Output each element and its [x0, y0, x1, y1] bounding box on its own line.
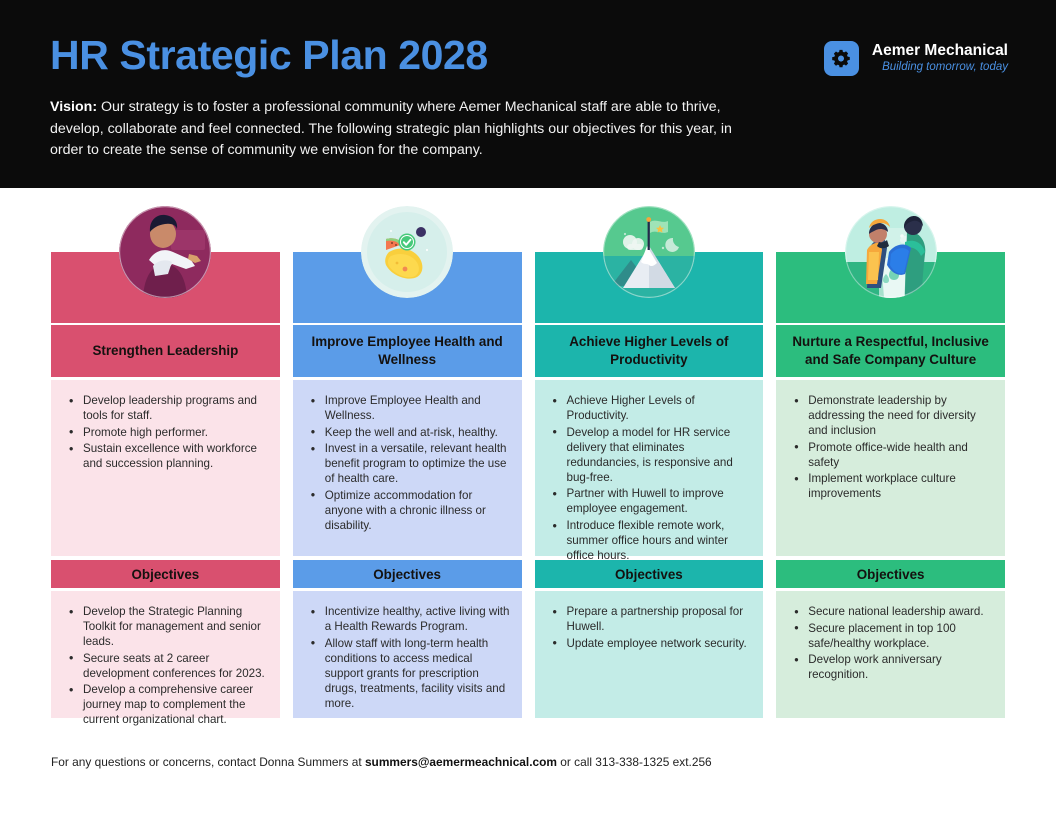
list-item: Sustain excellence with workforce and su… — [61, 441, 268, 471]
list-item: Improve Employee Health and Wellness. — [303, 393, 510, 423]
healthy-food-check-icon — [361, 206, 453, 298]
list-item: Implement workplace culture improvements — [786, 471, 993, 501]
column-title: Nurture a Respectful, Inclusive and Safe… — [776, 325, 1005, 377]
footer-email[interactable]: summers@aemermeachnical.com — [365, 755, 557, 769]
list-item: Achieve Higher Levels of Productivity. — [545, 393, 752, 423]
team-recycling-icon — [845, 206, 937, 298]
column-objectives: Develop the Strategic Planning Toolkit f… — [61, 604, 268, 728]
objectives-header: Objectives — [776, 560, 1005, 588]
vision-text: Our strategy is to foster a professional… — [50, 99, 732, 158]
footer-prefix: For any questions or concerns, contact D… — [51, 755, 365, 769]
list-item: Develop leadership programs and tools fo… — [61, 393, 268, 423]
column-banner — [293, 252, 522, 323]
list-item: Develop a comprehensive career journey m… — [61, 682, 268, 727]
list-item: Demonstrate leadership by addressing the… — [786, 393, 993, 438]
list-item: Keep the well and at-risk, healthy. — [303, 425, 510, 440]
vision-statement: Vision: Our strategy is to foster a prof… — [50, 97, 768, 162]
list-item: Optimize accommodation for anyone with a… — [303, 488, 510, 533]
column-banner — [535, 252, 764, 323]
column-title: Improve Employee Health and Wellness — [293, 325, 522, 377]
list-item: Prepare a partnership proposal for Huwel… — [545, 604, 752, 634]
list-item: Update employee network security. — [545, 636, 752, 651]
column-body: Improve Employee Health and Wellness. Ke… — [293, 380, 522, 556]
column-objectives: Secure national leadership award. Secure… — [786, 604, 993, 682]
objectives-header: Objectives — [535, 560, 764, 588]
gear-icon — [824, 41, 859, 76]
column-points: Achieve Higher Levels of Productivity. D… — [545, 393, 752, 563]
objectives-body: Incentivize healthy, active living with … — [293, 591, 522, 718]
list-item: Secure national leadership award. — [786, 604, 993, 619]
column-achieve-higher-levels-of-productivity: Achieve Higher Levels of Productivity Ac… — [535, 252, 764, 718]
column-title: Strengthen Leadership — [51, 325, 280, 377]
column-improve-employee-health-and-wellness: Improve Employee Health and Wellness Imp… — [293, 252, 522, 718]
list-item: Invest in a versatile, relevant health b… — [303, 441, 510, 486]
column-objectives: Incentivize healthy, active living with … — [303, 604, 510, 711]
column-banner — [776, 252, 1005, 323]
objectives-body: Prepare a partnership proposal for Huwel… — [535, 591, 764, 718]
column-strengthen-leadership: Strengthen Leadership Develop leadership… — [51, 252, 280, 718]
footer-suffix: or call 313-338-1325 ext.256 — [557, 755, 712, 769]
column-points: Improve Employee Health and Wellness. Ke… — [303, 393, 510, 533]
objectives-body: Develop the Strategic Planning Toolkit f… — [51, 591, 280, 718]
list-item: Incentivize healthy, active living with … — [303, 604, 510, 634]
list-item: Partner with Huwell to improve employee … — [545, 486, 752, 516]
list-item: Secure seats at 2 career development con… — [61, 651, 268, 681]
column-body: Develop leadership programs and tools fo… — [51, 380, 280, 556]
list-item: Introduce flexible remote work, summer o… — [545, 518, 752, 563]
column-body: Achieve Higher Levels of Productivity. D… — [535, 380, 764, 556]
objectives-body: Secure national leadership award. Secure… — [776, 591, 1005, 718]
column-objectives: Prepare a partnership proposal for Huwel… — [545, 604, 752, 651]
column-points: Develop leadership programs and tools fo… — [61, 393, 268, 471]
brand-tagline: Building tomorrow, today — [872, 60, 1008, 75]
brand-name: Aemer Mechanical — [872, 42, 1008, 60]
list-item: Promote office-wide health and safety — [786, 440, 993, 470]
vision-label: Vision: — [50, 99, 97, 115]
strategy-columns: Strengthen Leadership Develop leadership… — [51, 252, 1005, 718]
list-item: Develop the Strategic Planning Toolkit f… — [61, 604, 268, 649]
person-presenting-icon — [119, 206, 211, 298]
list-item: Develop a model for HR service delivery … — [545, 425, 752, 485]
list-item: Develop work anniversary recognition. — [786, 652, 993, 682]
mountain-summit-flag-icon — [603, 206, 695, 298]
list-item: Allow staff with long-term health condit… — [303, 636, 510, 711]
column-points: Demonstrate leadership by addressing the… — [786, 393, 993, 501]
infographic-page: HR Strategic Plan 2028 Vision: Our strat… — [0, 0, 1056, 816]
objectives-header: Objectives — [293, 560, 522, 588]
brand-lockup: Aemer Mechanical Building tomorrow, toda… — [824, 41, 1008, 76]
list-item: Promote high performer. — [61, 425, 268, 440]
column-title: Achieve Higher Levels of Productivity — [535, 325, 764, 377]
column-banner — [51, 252, 280, 323]
column-nurture-respectful-inclusive-safe-culture: Nurture a Respectful, Inclusive and Safe… — [776, 252, 1005, 718]
header-banner: HR Strategic Plan 2028 Vision: Our strat… — [0, 0, 1056, 188]
list-item: Secure placement in top 100 safe/healthy… — [786, 621, 993, 651]
objectives-header: Objectives — [51, 560, 280, 588]
brand-text-block: Aemer Mechanical Building tomorrow, toda… — [872, 42, 1008, 76]
footer-contact: For any questions or concerns, contact D… — [51, 755, 712, 769]
column-body: Demonstrate leadership by addressing the… — [776, 380, 1005, 556]
